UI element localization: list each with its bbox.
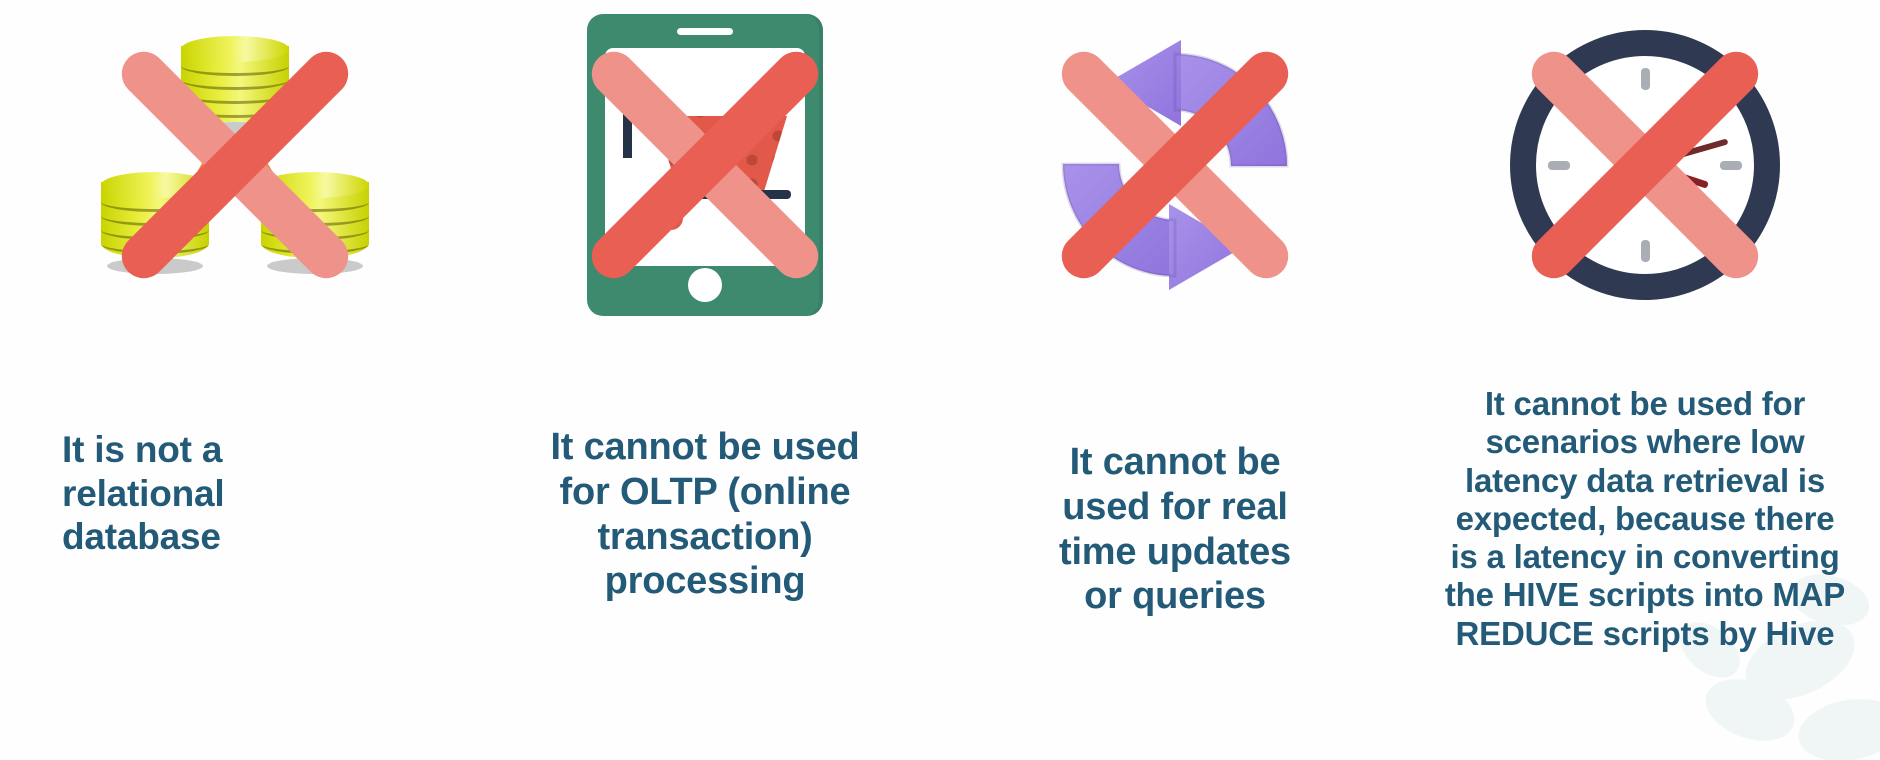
mobile-shopping-cart-icon [587,14,823,316]
cylinder-ring [101,234,209,254]
icon-slot-mobile-cart [550,0,860,330]
cylinder-shadow [187,122,283,138]
cylinder-shadow [107,258,203,274]
caption-line: It cannot be used for [1424,385,1866,423]
database-cylinder [101,172,209,268]
clock-tick-12 [1641,68,1650,90]
icon-slot-refresh [1020,0,1330,330]
caption-line: for OLTP (online [484,470,926,515]
caption-line: REDUCE scripts by Hive [1424,615,1866,653]
panel-caption: It cannot be used for real time updates … [940,440,1410,619]
cylinder-ring [261,234,369,254]
phone-home-button [688,268,722,302]
phone-screen [605,48,805,266]
caption-line: or queries [954,574,1396,619]
panel-caption: It cannot be used for OLTP (online trans… [470,425,940,604]
phone-speaker [677,28,733,35]
icon-slot-clock [1490,0,1800,330]
cylinder-top [181,36,289,62]
cylinder-top [261,172,369,198]
caption-line: time updates [954,530,1396,575]
panel-no-realtime-updates: It cannot be used for real time updates … [940,0,1410,760]
caption-line: relational [62,472,334,516]
cylinder-ring [181,98,289,118]
panel-caption: It cannot be used for scenarios where lo… [1410,385,1880,653]
cart-handle [623,90,659,158]
panel-no-low-latency: It cannot be used for scenarios where lo… [1410,0,1880,760]
caption-line: scenarios where low [1424,423,1866,461]
caption-line: used for real [954,485,1396,530]
database-cylinder [181,36,289,132]
database-cylinder [261,172,369,268]
caption-line: latency data retrieval is [1424,462,1866,500]
caption-line: transaction) [484,515,926,560]
caption-line: It cannot be used [484,425,926,470]
caption-line: database [62,515,334,559]
panel-caption: It is not a relational database [48,428,348,559]
refresh-sync-arrows-icon [1035,30,1315,300]
cart-basket-pattern [655,116,787,194]
clock-icon [1510,30,1780,300]
caption-line: It is not a [62,428,334,472]
shopping-cart-icon [623,90,793,240]
cart-wheel [749,206,773,230]
cart-wheel [659,206,683,230]
caption-line: the HIVE scripts into MAP [1424,576,1866,614]
caption-line: It cannot be [954,440,1396,485]
cart-rail [649,190,791,199]
clock-tick-6 [1641,240,1650,262]
caption-line: is a latency in converting [1424,538,1866,576]
database-cluster-icon [95,30,375,300]
caption-line: expected, because there [1424,500,1866,538]
clock-tick-9 [1548,161,1570,170]
cylinder-shadow [267,258,363,274]
panel-not-relational-database: It is not a relational database [0,0,470,760]
panel-grid: It is not a relational database [0,0,1880,760]
clock-tick-3 [1720,161,1742,170]
panel-no-oltp: It cannot be used for OLTP (online trans… [470,0,940,760]
slide-canvas: It is not a relational database [0,0,1880,760]
cylinder-top [101,172,209,198]
icon-slot-database [80,0,390,330]
caption-line: processing [484,559,926,604]
clock-center-pin [1639,159,1651,171]
